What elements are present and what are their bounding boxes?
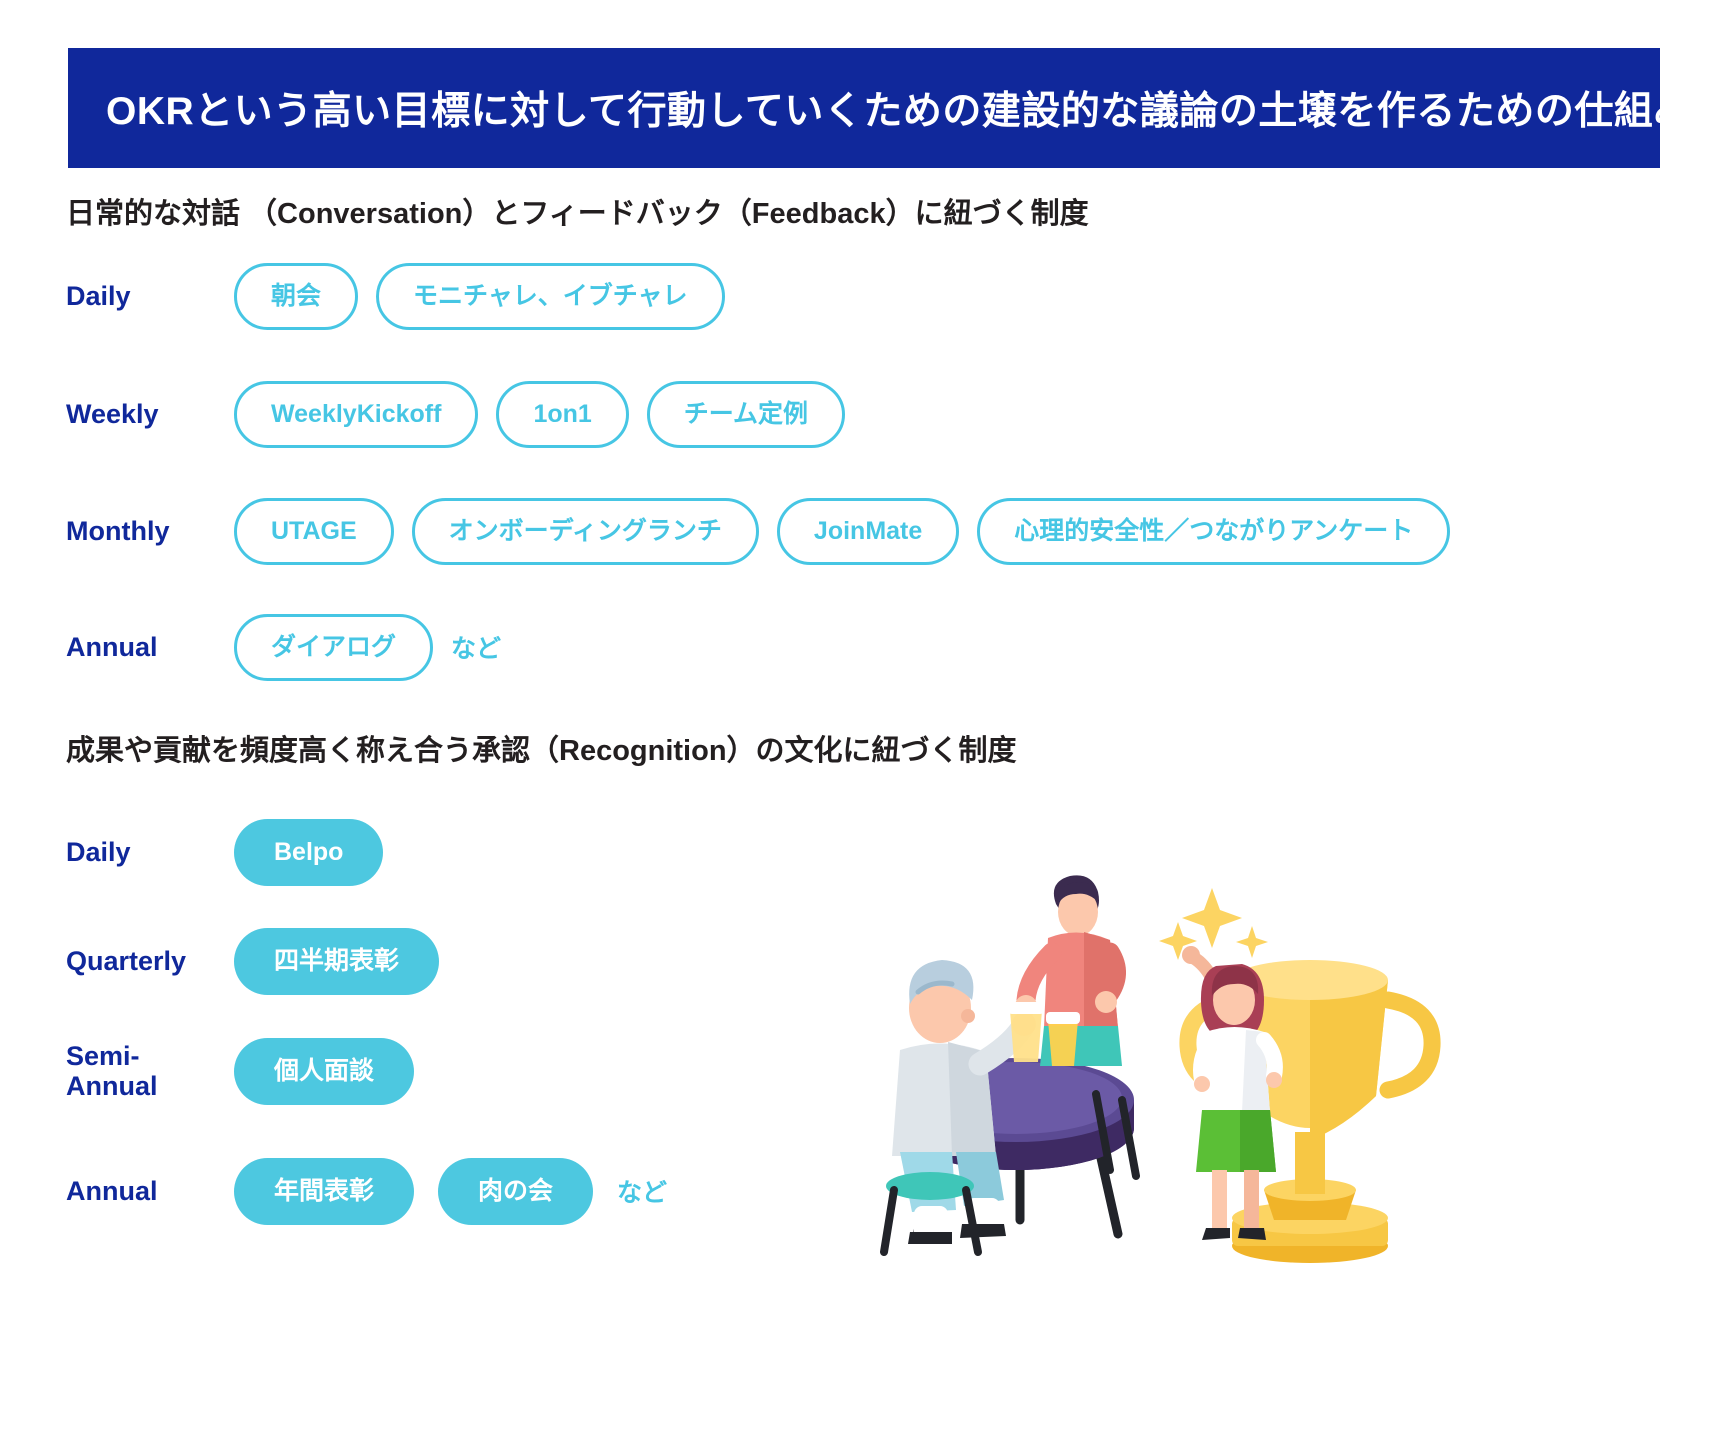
pill-group: WeeklyKickoff 1on1 チーム定例 (234, 381, 863, 448)
pill-group: Belpo (234, 819, 407, 886)
etc-suffix: など (451, 629, 501, 665)
pill-badge[interactable]: チーム定例 (647, 381, 845, 448)
row-conversation-daily: Daily 朝会 モニチャレ、イブチャレ (66, 263, 743, 330)
row-recognition-daily: Daily Belpo (66, 819, 407, 886)
pill-badge[interactable]: Belpo (234, 819, 383, 886)
frequency-label-quarterly: Quarterly (66, 946, 234, 976)
pill-badge[interactable]: オンボーディングランチ (412, 498, 759, 565)
pill-badge[interactable]: 肉の会 (438, 1158, 593, 1225)
pill-group: ダイアログ など (234, 614, 501, 681)
pill-badge[interactable]: ダイアログ (234, 614, 433, 681)
frequency-label-weekly: Weekly (66, 399, 234, 429)
pill-badge[interactable]: 1on1 (496, 381, 628, 448)
sparkle-icon (1159, 888, 1268, 960)
pill-group: 朝会 モニチャレ、イブチャレ (234, 263, 743, 330)
pill-badge[interactable]: モニチャレ、イブチャレ (376, 263, 725, 330)
section-heading-conversation: 日常的な対話 （Conversation）とフィードバック（Feedback）に… (66, 190, 1089, 232)
frequency-label-annual: Annual (66, 632, 234, 662)
row-conversation-annual: Annual ダイアログ など (66, 614, 501, 681)
page-title: OKRという高い目標に対して行動していくための建設的な議論の土壌を作るための仕組… (106, 80, 1693, 136)
pill-group: 個人面談 (234, 1038, 438, 1105)
frequency-label-daily: Daily (66, 281, 234, 311)
pill-group: UTAGE オンボーディングランチ JoinMate 心理的安全性／つながりアン… (234, 498, 1468, 565)
frequency-label-daily: Daily (66, 837, 234, 867)
pill-badge[interactable]: 朝会 (234, 263, 358, 330)
row-recognition-quarterly: Quarterly 四半期表彰 (66, 928, 463, 995)
pill-badge[interactable]: 個人面談 (234, 1038, 414, 1105)
pill-badge[interactable]: 四半期表彰 (234, 928, 439, 995)
frequency-label-annual: Annual (66, 1176, 234, 1206)
celebration-trophy-illustration (860, 860, 1500, 1280)
row-recognition-semiannual: Semi- Annual 個人面談 (66, 1038, 438, 1105)
etc-suffix: など (617, 1173, 667, 1209)
title-banner: OKRという高い目標に対して行動していくための建設的な議論の土壌を作るための仕組… (68, 48, 1660, 168)
pill-group: 四半期表彰 (234, 928, 463, 995)
row-conversation-weekly: Weekly WeeklyKickoff 1on1 チーム定例 (66, 381, 863, 448)
frequency-label-monthly: Monthly (66, 516, 234, 546)
pill-badge[interactable]: UTAGE (234, 498, 394, 565)
pill-badge[interactable]: WeeklyKickoff (234, 381, 478, 448)
pill-badge[interactable]: 心理的安全性／つながりアンケート (977, 498, 1450, 565)
row-conversation-monthly: Monthly UTAGE オンボーディングランチ JoinMate 心理的安全… (66, 498, 1468, 565)
section-heading-recognition: 成果や貢献を頻度高く称え合う承認（Recognition）の文化に紐づく制度 (66, 727, 1017, 769)
slide-canvas: OKRという高い目標に対して行動していくための建設的な議論の土壌を作るための仕組… (0, 0, 1719, 1455)
pill-group: 年間表彰 肉の会 など (234, 1158, 667, 1225)
pill-badge[interactable]: 年間表彰 (234, 1158, 414, 1225)
frequency-label-semi-annual: Semi- Annual (66, 1041, 234, 1101)
pill-badge[interactable]: JoinMate (777, 498, 959, 565)
row-recognition-annual: Annual 年間表彰 肉の会 など (66, 1158, 667, 1225)
